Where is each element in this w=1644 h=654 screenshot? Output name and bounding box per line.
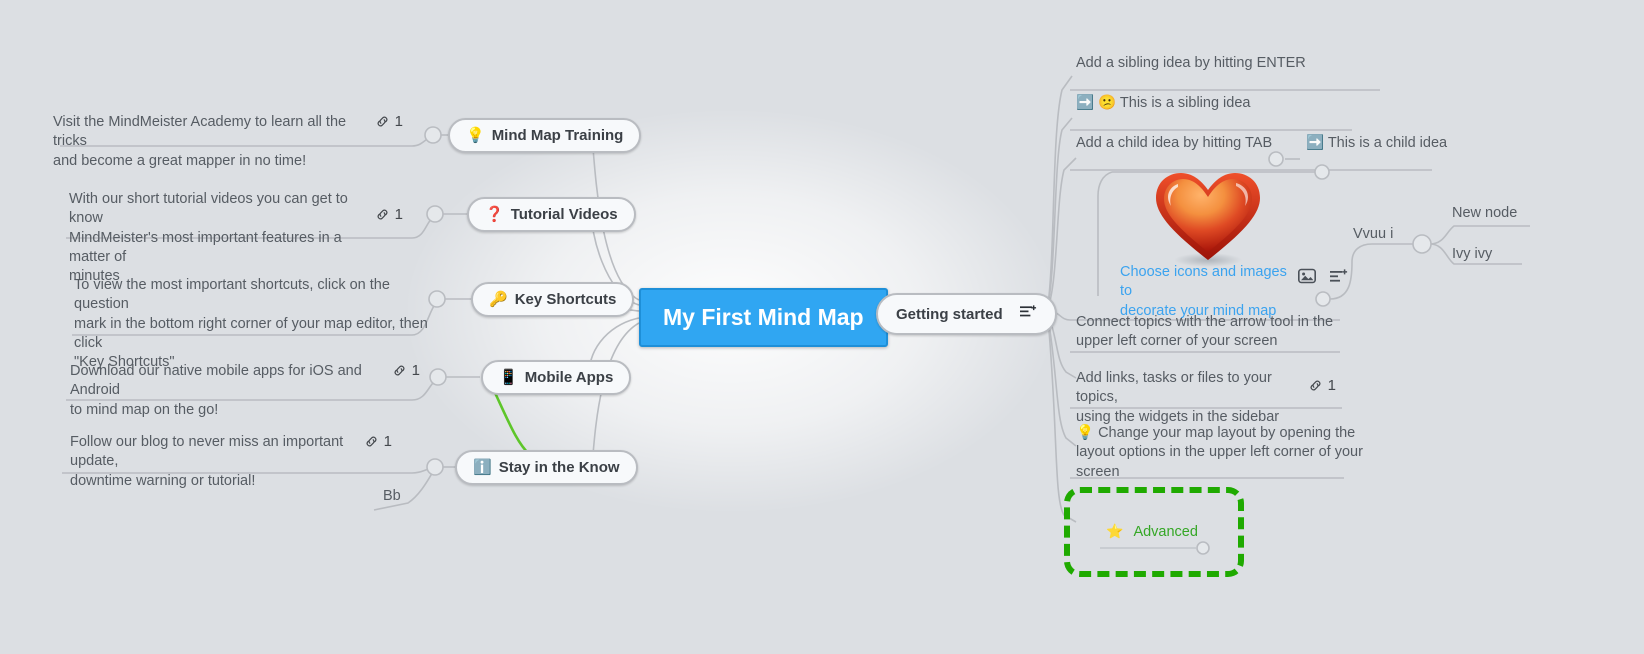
question-mark-icon: ❓ [485, 207, 504, 222]
note-tutorial-videos[interactable]: With our short tutorial videos you can g… [69, 190, 403, 286]
note-text: Visit the MindMeister Academy to learn a… [53, 113, 365, 171]
lightbulb-icon: 💡 [466, 128, 485, 143]
node-label: Stay in the Know [499, 460, 620, 475]
node-label: Key Shortcuts [515, 292, 617, 307]
note-text: With our short tutorial videos you can g… [69, 190, 365, 286]
note-text: To view the most important shortcuts, cl… [74, 276, 434, 372]
link-count: 1 [1328, 377, 1336, 394]
link-count: 1 [412, 362, 420, 379]
link-badge[interactable]: 1 [392, 362, 420, 379]
note-academy[interactable]: Visit the MindMeister Academy to learn a… [53, 113, 403, 171]
node-label: Mind Map Training [492, 128, 624, 143]
node-label: Advanced [1133, 523, 1198, 542]
node-stay-in-the-know[interactable]: ℹ️ Stay in the Know [455, 450, 638, 485]
node-ivy-ivy[interactable]: Ivy ivy [1452, 245, 1492, 264]
node-tutorial-videos[interactable]: ❓ Tutorial Videos [467, 197, 636, 232]
image-icon[interactable] [1298, 268, 1316, 289]
right-item-child-idea[interactable]: ➡️ This is a child idea [1306, 134, 1447, 153]
right-item-sibling-hint[interactable]: Add a sibling idea by hitting ENTER [1076, 54, 1306, 73]
note-mobile-apps[interactable]: Download our native mobile apps for iOS … [70, 362, 420, 420]
star-icon: ⭐ [1106, 523, 1123, 540]
node-advanced[interactable]: ⭐ Advanced [1106, 523, 1198, 542]
link-count: 1 [384, 433, 392, 450]
node-getting-started[interactable]: Getting started [876, 293, 1057, 335]
node-new-node[interactable]: New node [1452, 204, 1517, 223]
right-item-change-layout[interactable]: 💡 Change your map layout by opening the … [1076, 424, 1363, 482]
link-badge[interactable]: 1 [1308, 377, 1336, 394]
right-item-connect-topics[interactable]: Connect topics with the arrow tool in th… [1076, 313, 1333, 352]
root-node[interactable]: My First Mind Map [639, 288, 888, 347]
note-text: Add links, tasks or files to your topics… [1076, 369, 1298, 427]
link-icon [364, 434, 379, 449]
right-item-add-links[interactable]: Add links, tasks or files to your topics… [1076, 369, 1336, 427]
link-badge[interactable]: 1 [375, 206, 403, 223]
node-label: Tutorial Videos [511, 207, 618, 222]
right-item-sibling-idea[interactable]: ➡️ 😕 This is a sibling idea [1076, 94, 1250, 113]
link-badge[interactable]: 1 [375, 113, 403, 130]
node-vvuu-i[interactable]: Vvuu i [1353, 225, 1393, 244]
link-icon [375, 207, 390, 222]
note-add-icon[interactable] [1020, 305, 1037, 323]
node-label: Mobile Apps [525, 370, 614, 385]
mindmap-canvas[interactable]: My First Mind Map 💡 Mind Map Training ❓ … [0, 0, 1644, 654]
note-blog[interactable]: Follow our blog to never miss an importa… [70, 433, 392, 491]
node-key-shortcuts[interactable]: 🔑 Key Shortcuts [471, 282, 634, 317]
information-icon: ℹ️ [473, 460, 492, 475]
mobile-phone-icon: 📱 [499, 370, 518, 385]
link-count: 1 [395, 206, 403, 223]
link-icon [375, 114, 390, 129]
node-bb[interactable]: Bb [383, 487, 401, 506]
link-icon [1308, 378, 1323, 393]
link-icon [392, 363, 407, 378]
note-text: Follow our blog to never miss an importa… [70, 433, 354, 491]
note-key-shortcuts[interactable]: To view the most important shortcuts, cl… [74, 276, 434, 372]
link-badge[interactable]: 1 [364, 433, 392, 450]
link-count: 1 [395, 113, 403, 130]
right-item-child-hint[interactable]: Add a child idea by hitting TAB [1076, 134, 1272, 153]
node-label: Getting started [896, 307, 1003, 322]
note-add-icon[interactable] [1330, 269, 1348, 289]
key-icon: 🔑 [489, 292, 508, 307]
note-text: Download our native mobile apps for iOS … [70, 362, 382, 420]
node-mobile-apps[interactable]: 📱 Mobile Apps [481, 360, 631, 395]
heart-emoji [1148, 168, 1268, 268]
node-mind-map-training[interactable]: 💡 Mind Map Training [448, 118, 641, 153]
